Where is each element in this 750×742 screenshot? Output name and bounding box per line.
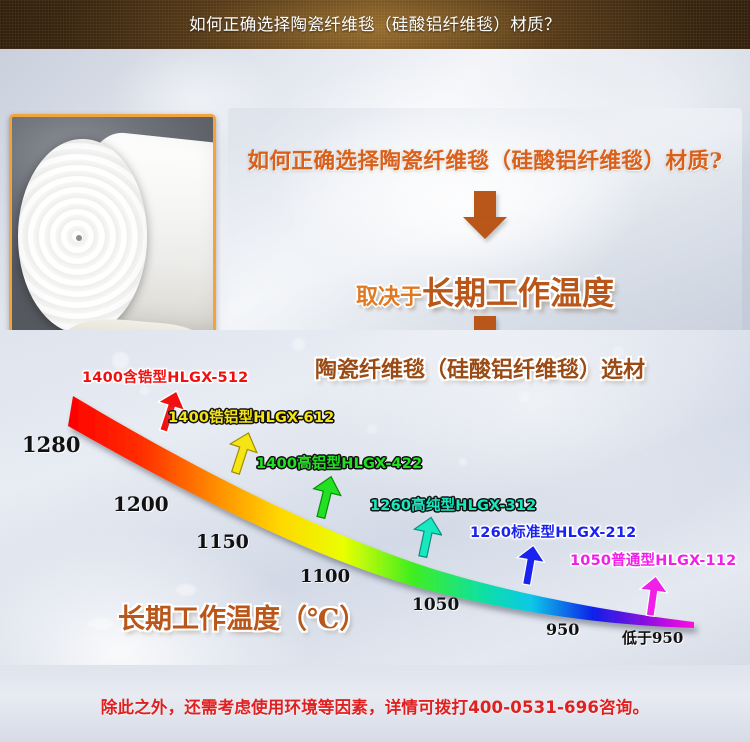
bokeh-dot xyxy=(519,392,530,403)
hero-sub-prefix: 取决于 xyxy=(356,284,422,310)
bokeh-dot xyxy=(292,338,305,351)
product-photo-backdrop xyxy=(12,117,213,366)
grade-arrow-312-icon xyxy=(410,515,442,559)
temp-tick-1150: 1150 xyxy=(196,531,249,553)
temp-tick-1100: 1100 xyxy=(300,566,350,587)
grade-label-212: 1260标准型HLGX-212 xyxy=(470,521,636,542)
hero-sub-main: 长期工作温度 xyxy=(422,274,614,312)
hero-headline: 如何正确选择陶瓷纤维毯（硅酸铝纤维毯）材质? xyxy=(228,144,742,175)
temp-tick-950: 950 xyxy=(546,620,579,639)
grade-arrow-612-icon xyxy=(224,430,258,476)
banner-title: 如何正确选择陶瓷纤维毯（硅酸铝纤维毯）材质？ xyxy=(0,0,750,49)
grade-arrow-212-icon xyxy=(513,543,545,587)
chart-title: 陶瓷纤维毯（硅酸铝纤维毯）选材 xyxy=(315,352,645,384)
bokeh-dot xyxy=(367,424,377,434)
chart-axis-label: 长期工作温度（℃） xyxy=(118,597,366,636)
temp-tick-1280: 1280 xyxy=(22,432,80,457)
hero-section: 如何正确选择陶瓷纤维毯（硅酸铝纤维毯）材质? 取决于长期工作温度 xyxy=(0,49,750,330)
bokeh-dot xyxy=(176,584,196,596)
grade-label-312: 1260高纯型HLGX-312 xyxy=(370,494,536,515)
temp-tick-1200: 1200 xyxy=(113,492,169,516)
grade-arrow-112-icon xyxy=(636,574,668,618)
temp-tick-1050: 1050 xyxy=(412,595,459,615)
grade-label-612: 1400锆铝型HLGX-612 xyxy=(168,406,334,427)
bokeh-dot xyxy=(140,386,149,395)
page-root: 如何正确选择陶瓷纤维毯（硅酸铝纤维毯）材质？ 如何正确选择陶瓷纤维毯（硅酸铝纤维… xyxy=(0,0,750,742)
hero-subline: 取决于长期工作温度 xyxy=(228,268,742,314)
footer-text: 除此之外，还需考虑使用环境等因素，详情可拨打400-0531-696咨询。 xyxy=(0,694,750,718)
fiber-roll-core xyxy=(76,235,82,241)
temp-tick-below-950: 低于950 xyxy=(622,627,683,648)
fiber-roll-face xyxy=(18,139,147,333)
grade-label-512: 1400含锆型HLGX-512 xyxy=(82,366,248,387)
grade-label-112: 1050普通型HLGX-112 xyxy=(570,549,736,570)
top-banner: 如何正确选择陶瓷纤维毯（硅酸铝纤维毯）材质？ xyxy=(0,0,750,49)
bokeh-dot xyxy=(88,618,114,629)
grade-label-422: 1400高铝型HLGX-422 xyxy=(256,452,422,473)
bokeh-dot xyxy=(459,458,467,466)
grade-arrow-422-icon xyxy=(308,474,342,520)
